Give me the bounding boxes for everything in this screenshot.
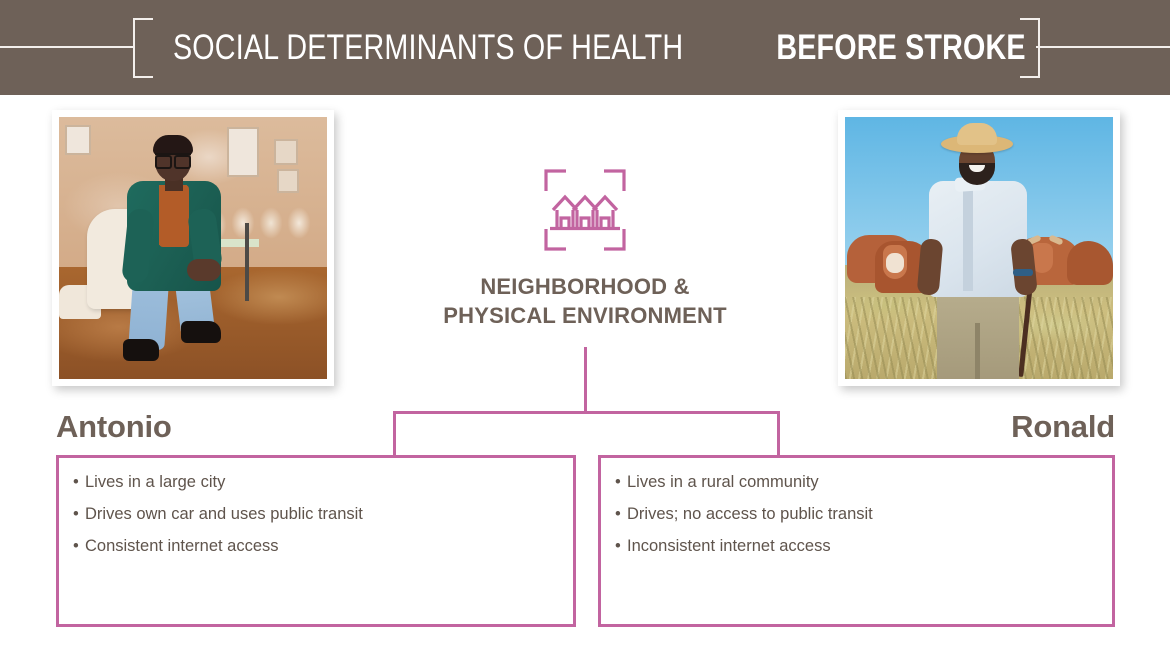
- fact-text: Lives in a large city: [85, 473, 225, 491]
- straw-hat-crown: [957, 123, 997, 145]
- bullet-icon: •: [615, 466, 627, 498]
- fact-box-ronald: •Lives in a rural community •Drives; no …: [598, 455, 1115, 627]
- bullet-icon: •: [73, 466, 85, 498]
- person-hands: [187, 259, 221, 281]
- person-boot-front: [123, 339, 159, 361]
- bullet-icon: •: [73, 498, 85, 530]
- wristwatch: [1013, 269, 1033, 276]
- fact-text: Consistent internet access: [85, 537, 279, 555]
- glasses-icon: [155, 153, 191, 165]
- header-band: SOCIAL DETERMINANTS OF HEALTH BEFORE STR…: [0, 0, 1170, 95]
- fact-list-ronald: •Lives in a rural community •Drives; no …: [601, 458, 1112, 562]
- photo-card-antonio: [52, 110, 334, 386]
- category-label-line1: NEIGHBORHOOD &: [385, 272, 785, 301]
- person-shirt-placket: [963, 183, 973, 291]
- bullet-icon: •: [615, 530, 627, 562]
- person-name-antonio: Antonio: [56, 409, 172, 445]
- fact-list-antonio: •Lives in a large city •Drives own car a…: [59, 458, 573, 562]
- page-title-bold: BEFORE STROKE: [776, 28, 1025, 68]
- category-label: NEIGHBORHOOD & PHYSICAL ENVIRONMENT: [385, 272, 785, 330]
- list-item: •Lives in a large city: [73, 466, 573, 498]
- list-item: •Drives own car and uses public transit: [73, 498, 573, 530]
- person-hair: [153, 135, 193, 155]
- list-item: •Lives in a rural community: [615, 466, 1112, 498]
- cow-head: [883, 245, 907, 279]
- connector-stem: [584, 347, 587, 413]
- wall-frame: [274, 139, 298, 165]
- neighborhood-houses-icon: [540, 165, 630, 255]
- person-boot-back: [181, 321, 221, 343]
- page-title-light: SOCIAL DETERMINANTS OF HEALTH: [173, 28, 683, 68]
- person-pants-seam: [975, 323, 980, 379]
- list-item: •Consistent internet access: [73, 530, 573, 562]
- category-label-line2: PHYSICAL ENVIRONMENT: [385, 301, 785, 330]
- list-item: •Inconsistent internet access: [615, 530, 1112, 562]
- photo-card-ronald: [838, 110, 1120, 386]
- fact-box-antonio: •Lives in a large city •Drives own car a…: [56, 455, 576, 627]
- person-shirt: [929, 181, 1027, 297]
- bullet-icon: •: [73, 530, 85, 562]
- wall-frame: [227, 127, 259, 177]
- fact-text: Lives in a rural community: [627, 473, 819, 491]
- fact-text: Drives; no access to public transit: [627, 505, 873, 523]
- connector-drop-right: [777, 411, 780, 457]
- wall-frame: [65, 125, 91, 155]
- page-title: SOCIAL DETERMINANTS OF HEALTH BEFORE STR…: [0, 0, 1170, 95]
- table-leg: [245, 223, 249, 301]
- photo-ronald: [845, 117, 1113, 379]
- fact-text: Drives own car and uses public transit: [85, 505, 363, 523]
- photo-antonio: [59, 117, 327, 379]
- list-item: •Drives; no access to public transit: [615, 498, 1112, 530]
- fact-text: Inconsistent internet access: [627, 537, 831, 555]
- person-shirt: [159, 185, 189, 247]
- person-name-ronald: Ronald: [815, 409, 1115, 445]
- wall-frame: [277, 169, 299, 193]
- connector-horizontal-bar: [393, 411, 780, 414]
- connector-drop-left: [393, 411, 396, 457]
- bullet-icon: •: [615, 498, 627, 530]
